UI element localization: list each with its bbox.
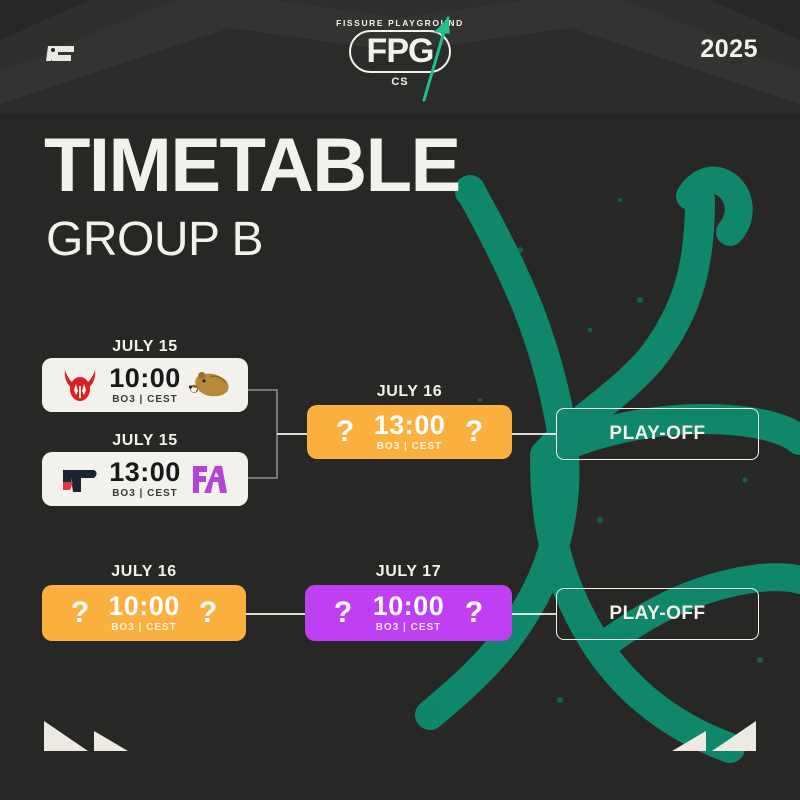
tbd-placeholder: ? [465, 598, 483, 628]
question-mark-icon: ? [448, 410, 500, 454]
fpg-logo: FISSURE PLAYGROUND FPG CS [300, 18, 500, 88]
match-info: 13:00 BO3 | CEST [371, 412, 448, 452]
bracket: JULY 15 10:00 BO3 [0, 0, 800, 800]
purple-angular-logo [184, 457, 236, 501]
match-date: JULY 17 [305, 563, 512, 581]
logo-tagline: FISSURE PLAYGROUND [300, 18, 500, 28]
match-time: 13:00 [371, 412, 448, 439]
match-time: 10:00 [369, 593, 448, 620]
playoff-slot[interactable]: PLAY-OFF [556, 588, 759, 640]
match-format: BO3 | CEST [371, 442, 448, 452]
tbd-placeholder: ? [465, 417, 483, 447]
match-format: BO3 | CEST [106, 623, 182, 633]
pain-p-logo [54, 457, 106, 501]
match-time: 10:00 [106, 365, 184, 392]
roaring-bear-logo [184, 363, 236, 407]
match-info: 10:00 BO3 | CEST [106, 365, 184, 405]
match-format: BO3 | CEST [106, 395, 184, 405]
playoff-label: PLAY-OFF [609, 603, 705, 625]
match-info: 10:00 BO3 | CEST [369, 593, 448, 633]
playoff-label: PLAY-OFF [609, 423, 705, 445]
horned-demon-logo [54, 363, 106, 407]
playoff-slot[interactable]: PLAY-OFF [556, 408, 759, 460]
green-arrow-icon [418, 12, 458, 107]
tbd-placeholder: ? [199, 598, 217, 628]
tbd-placeholder: ? [71, 598, 89, 628]
question-mark-icon: ? [319, 410, 371, 454]
match-date: JULY 16 [42, 563, 246, 581]
match-date: JULY 15 [42, 338, 248, 356]
fissure-f-icon [44, 36, 78, 70]
match-card[interactable]: ? 13:00 BO3 | CEST ? [307, 405, 512, 459]
match-time: 10:00 [106, 593, 182, 620]
question-mark-icon: ? [182, 591, 234, 635]
match-format: BO3 | CEST [369, 623, 448, 633]
match-date: JULY 15 [42, 432, 248, 450]
match-card[interactable]: ? 10:00 BO3 | CEST ? [42, 585, 246, 641]
match-date: JULY 16 [307, 383, 512, 401]
question-mark-icon: ? [54, 591, 106, 635]
timetable-poster: 2025 FISSURE PLAYGROUND FPG CS TIMETABLE… [0, 0, 800, 800]
ascending-triangles-icon [670, 711, 758, 758]
tbd-placeholder: ? [334, 598, 352, 628]
question-mark-icon: ? [448, 591, 500, 635]
tbd-placeholder: ? [336, 417, 354, 447]
match-card[interactable]: 13:00 BO3 | CEST [42, 452, 248, 506]
match-card[interactable]: ? 10:00 BO3 | CEST ? [305, 585, 512, 641]
match-info: 13:00 BO3 | CEST [106, 459, 184, 499]
descending-triangles-icon [42, 711, 130, 758]
year-label: 2025 [700, 35, 758, 64]
match-card[interactable]: 10:00 BO3 | CEST [42, 358, 248, 412]
question-mark-icon: ? [317, 591, 369, 635]
match-info: 10:00 BO3 | CEST [106, 593, 182, 633]
match-format: BO3 | CEST [106, 489, 184, 499]
match-time: 13:00 [106, 459, 184, 486]
logo-discipline: CS [300, 76, 500, 88]
